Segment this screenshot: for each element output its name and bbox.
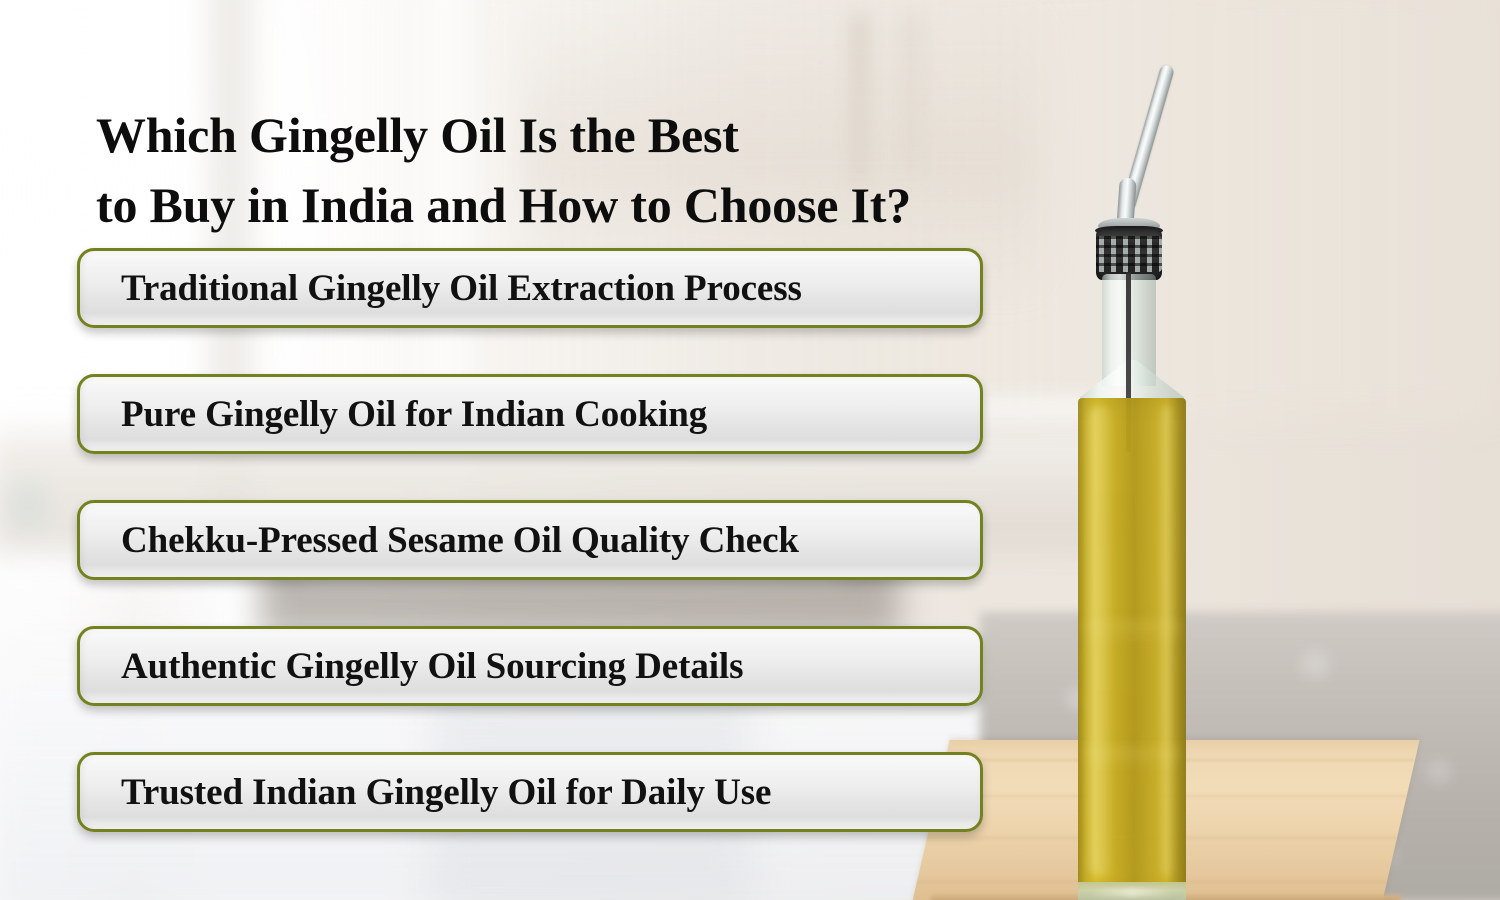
pourer-collar-grooves	[1096, 236, 1162, 272]
topic-list-item-2[interactable]: Pure Gingelly Oil for Indian Cooking	[77, 374, 983, 454]
topic-list-item-5[interactable]: Trusted Indian Gingelly Oil for Daily Us…	[77, 752, 983, 832]
topic-list-item-3[interactable]: Chekku-Pressed Sesame Oil Quality Check	[77, 500, 983, 580]
topic-list-item-4[interactable]: Authentic Gingelly Oil Sourcing Details	[77, 626, 983, 706]
bottle-highlight-right	[1162, 406, 1175, 876]
page-title-line-1: Which Gingelly Oil Is the Best	[96, 100, 1096, 170]
page-title-line-2: to Buy in India and How to Choose It?	[96, 170, 1096, 240]
page-title: Which Gingelly Oil Is the Best to Buy in…	[96, 100, 1096, 240]
topic-list: Traditional Gingelly Oil Extraction Proc…	[77, 248, 983, 832]
topic-list-item-1[interactable]: Traditional Gingelly Oil Extraction Proc…	[77, 248, 983, 328]
bottle-highlight-left	[1090, 406, 1112, 876]
bottle-base-highlight	[1090, 888, 1174, 897]
topic-label: Pure Gingelly Oil for Indian Cooking	[80, 396, 707, 433]
topic-label: Trusted Indian Gingelly Oil for Daily Us…	[80, 774, 771, 811]
topic-label: Authentic Gingelly Oil Sourcing Details	[80, 648, 743, 685]
infographic-canvas: Which Gingelly Oil Is the Best to Buy in…	[0, 0, 1500, 900]
topic-label: Traditional Gingelly Oil Extraction Proc…	[80, 270, 802, 307]
topic-label: Chekku-Pressed Sesame Oil Quality Check	[80, 522, 799, 559]
